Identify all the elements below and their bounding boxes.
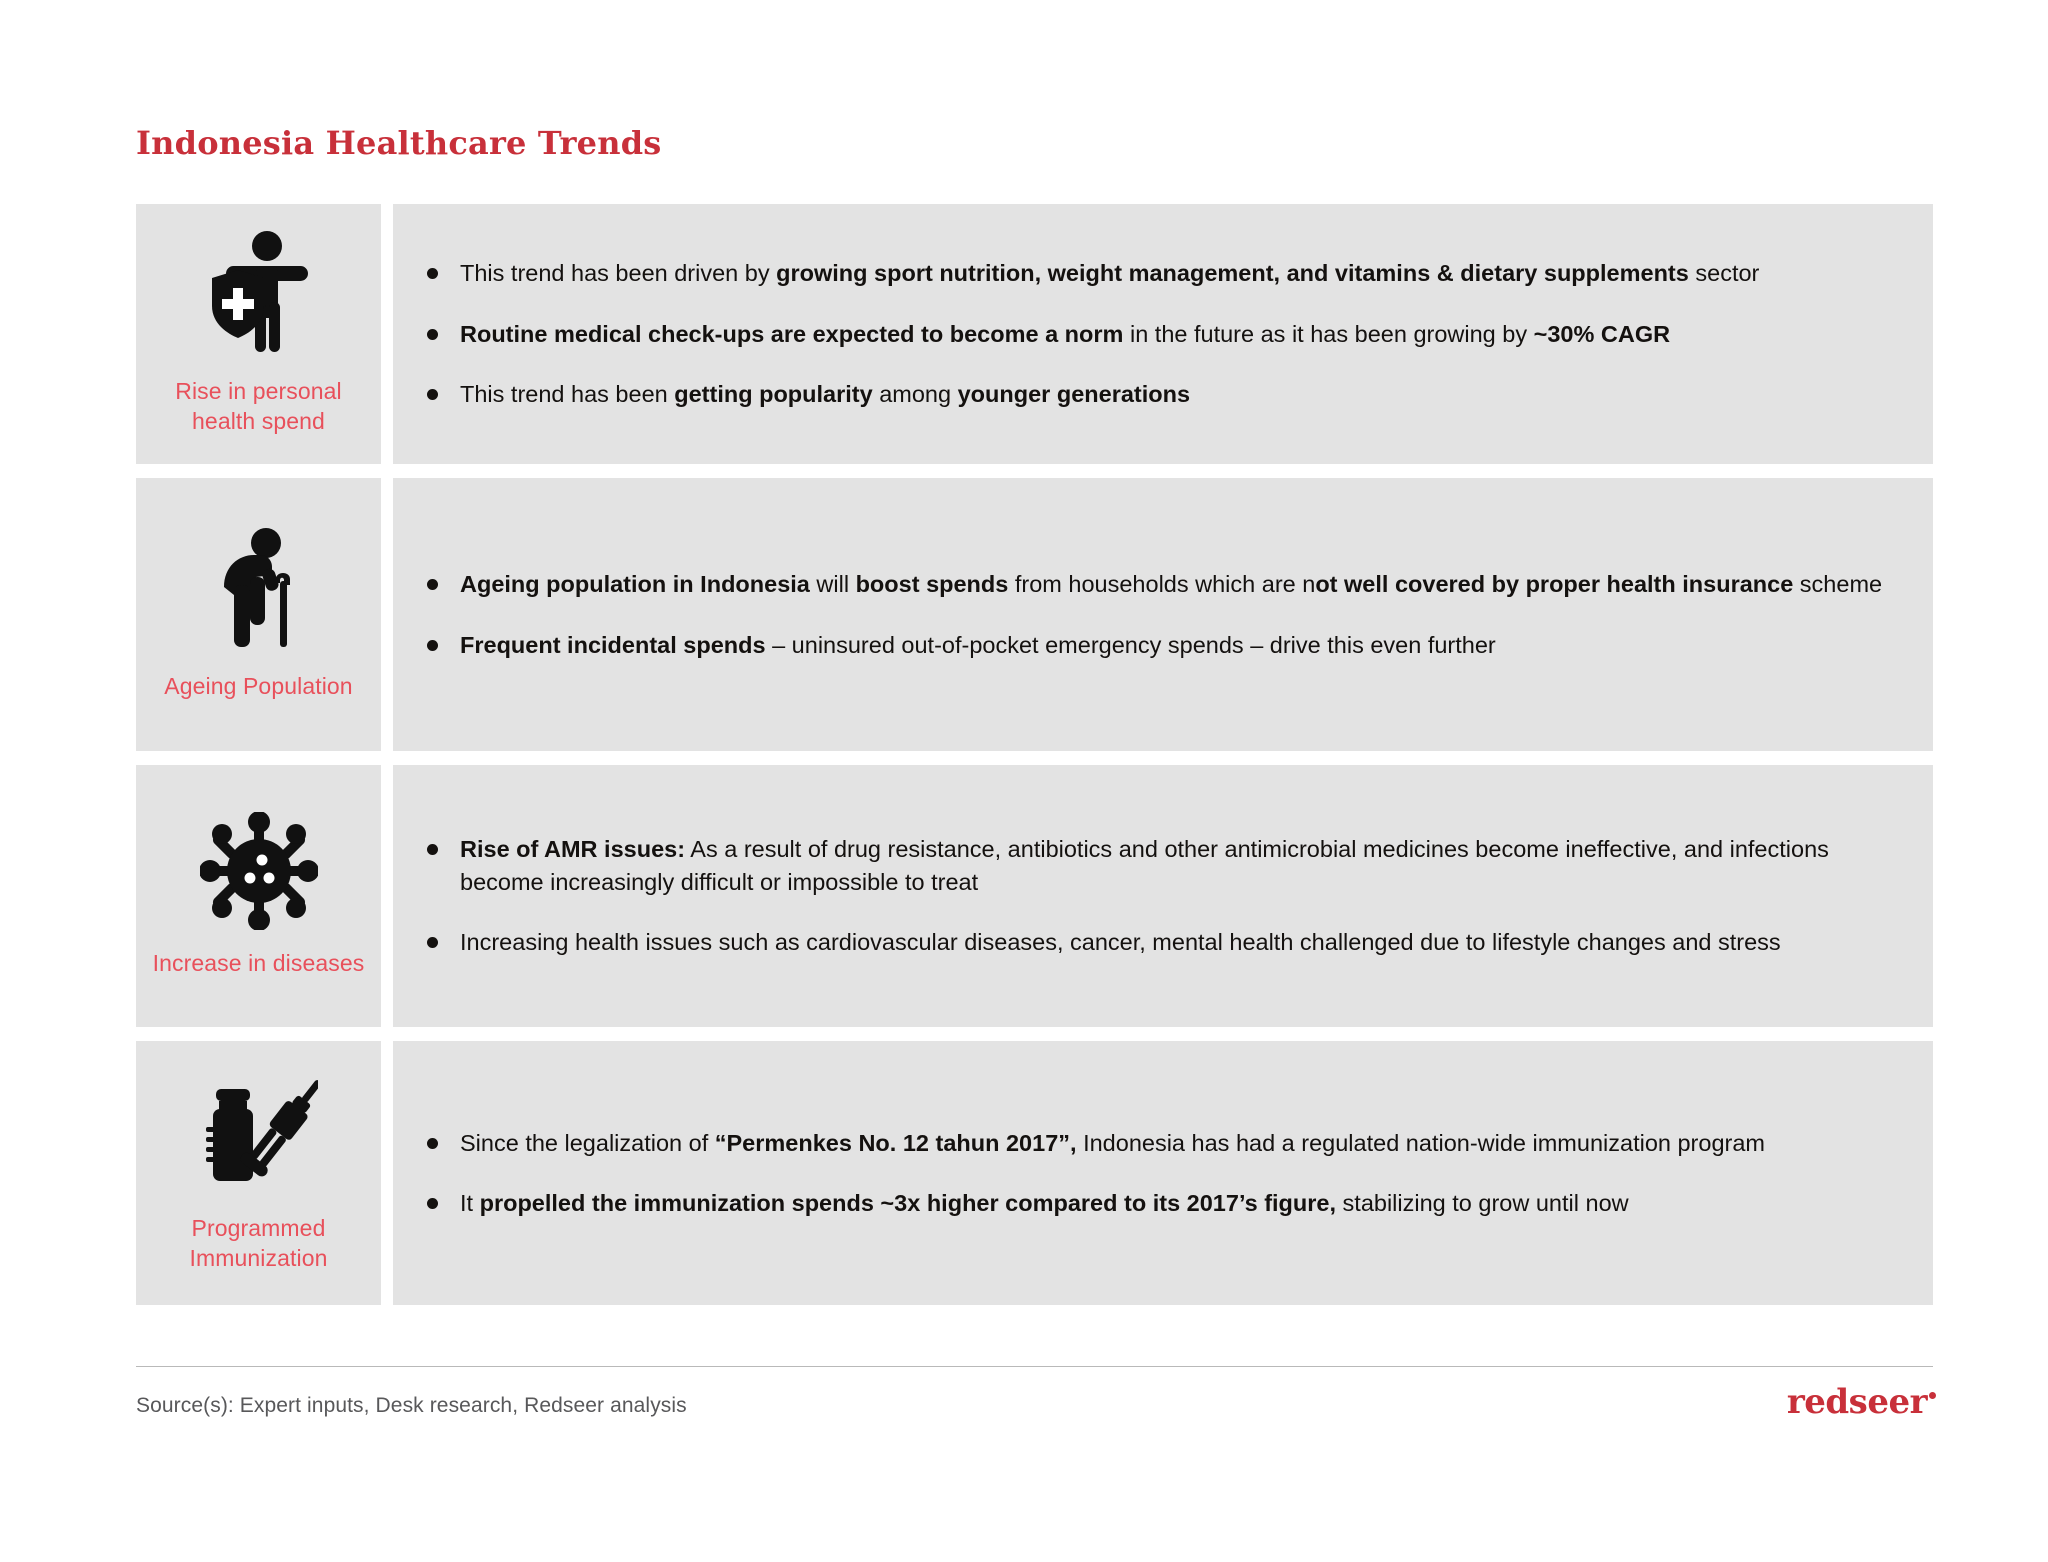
trend-row: Increase in diseases Rise of AMR issues:…: [136, 765, 1933, 1027]
trend-content-panel: This trend has been driven by growing sp…: [393, 204, 1933, 464]
bullet-dot-icon: [427, 1198, 438, 1209]
trend-content-panel: Rise of AMR issues: As a result of drug …: [393, 765, 1933, 1027]
trend-rows-container: Rise in personal health spend This trend…: [136, 204, 1933, 1319]
trend-icon-label: Rise in personal health spend: [142, 377, 375, 436]
redseer-logo-dot-icon: [1929, 1392, 1936, 1399]
trend-icon-panel: Ageing Population: [136, 478, 381, 751]
trend-icon-panel: Programmed Immunization: [136, 1041, 381, 1305]
bullet-dot-icon: [427, 579, 438, 590]
bullet-dot-icon: [427, 640, 438, 651]
bullet-text: Since the legalization of “Permenkes No.…: [460, 1127, 1889, 1159]
person-health-shield-icon: [204, 230, 314, 363]
trend-icon-label: Ageing Population: [164, 672, 352, 701]
bullet-text: It propelled the immunization spends ~3x…: [460, 1187, 1889, 1219]
trend-row: Ageing Population Ageing population in I…: [136, 478, 1933, 751]
bullet-text: This trend has been getting popularity a…: [460, 378, 1889, 410]
bullet-dot-icon: [427, 937, 438, 948]
bullet-item: Increasing health issues such as cardiov…: [427, 926, 1889, 958]
trend-row: Programmed Immunization Since the legali…: [136, 1041, 1933, 1305]
bullet-dot-icon: [427, 329, 438, 340]
bullet-text: Routine medical check-ups are expected t…: [460, 318, 1889, 350]
trend-content-panel: Since the legalization of “Permenkes No.…: [393, 1041, 1933, 1305]
virus-germ-icon: [200, 812, 318, 935]
bullet-text: Ageing population in Indonesia will boos…: [460, 568, 1889, 600]
redseer-logo: redseer: [1787, 1382, 1936, 1422]
vaccine-vial-syringe-icon: [200, 1071, 318, 1200]
bullet-item: This trend has been getting popularity a…: [427, 378, 1889, 410]
trend-icon-panel: Increase in diseases: [136, 765, 381, 1027]
elderly-person-cane-icon: [204, 525, 314, 658]
bullet-item: It propelled the immunization spends ~3x…: [427, 1187, 1889, 1219]
bullet-item: Frequent incidental spends – uninsured o…: [427, 629, 1889, 661]
bullet-dot-icon: [427, 844, 438, 855]
bullet-dot-icon: [427, 268, 438, 279]
slide-canvas: Indonesia Healthcare Trends: [0, 0, 2048, 1562]
footer-source-text: Source(s): Expert inputs, Desk research,…: [136, 1394, 687, 1418]
bullet-item: Ageing population in Indonesia will boos…: [427, 568, 1889, 600]
bullet-item: This trend has been driven by growing sp…: [427, 257, 1889, 289]
trend-icon-label: Increase in diseases: [153, 949, 365, 978]
bullet-item: Routine medical check-ups are expected t…: [427, 318, 1889, 350]
trend-icon-panel: Rise in personal health spend: [136, 204, 381, 464]
trend-icon-label: Programmed Immunization: [142, 1214, 375, 1273]
bullet-text: Frequent incidental spends – uninsured o…: [460, 629, 1889, 661]
bullet-text: Rise of AMR issues: As a result of drug …: [460, 833, 1889, 898]
bullet-item: Rise of AMR issues: As a result of drug …: [427, 833, 1889, 898]
trend-content-panel: Ageing population in Indonesia will boos…: [393, 478, 1933, 751]
bullet-text: This trend has been driven by growing sp…: [460, 257, 1889, 289]
bullet-item: Since the legalization of “Permenkes No.…: [427, 1127, 1889, 1159]
bullet-dot-icon: [427, 389, 438, 400]
trend-row: Rise in personal health spend This trend…: [136, 204, 1933, 464]
redseer-logo-text: redseer: [1787, 1382, 1927, 1422]
page-title: Indonesia Healthcare Trends: [136, 124, 662, 162]
footer-divider: [136, 1366, 1933, 1367]
bullet-text: Increasing health issues such as cardiov…: [460, 926, 1889, 958]
bullet-dot-icon: [427, 1138, 438, 1149]
